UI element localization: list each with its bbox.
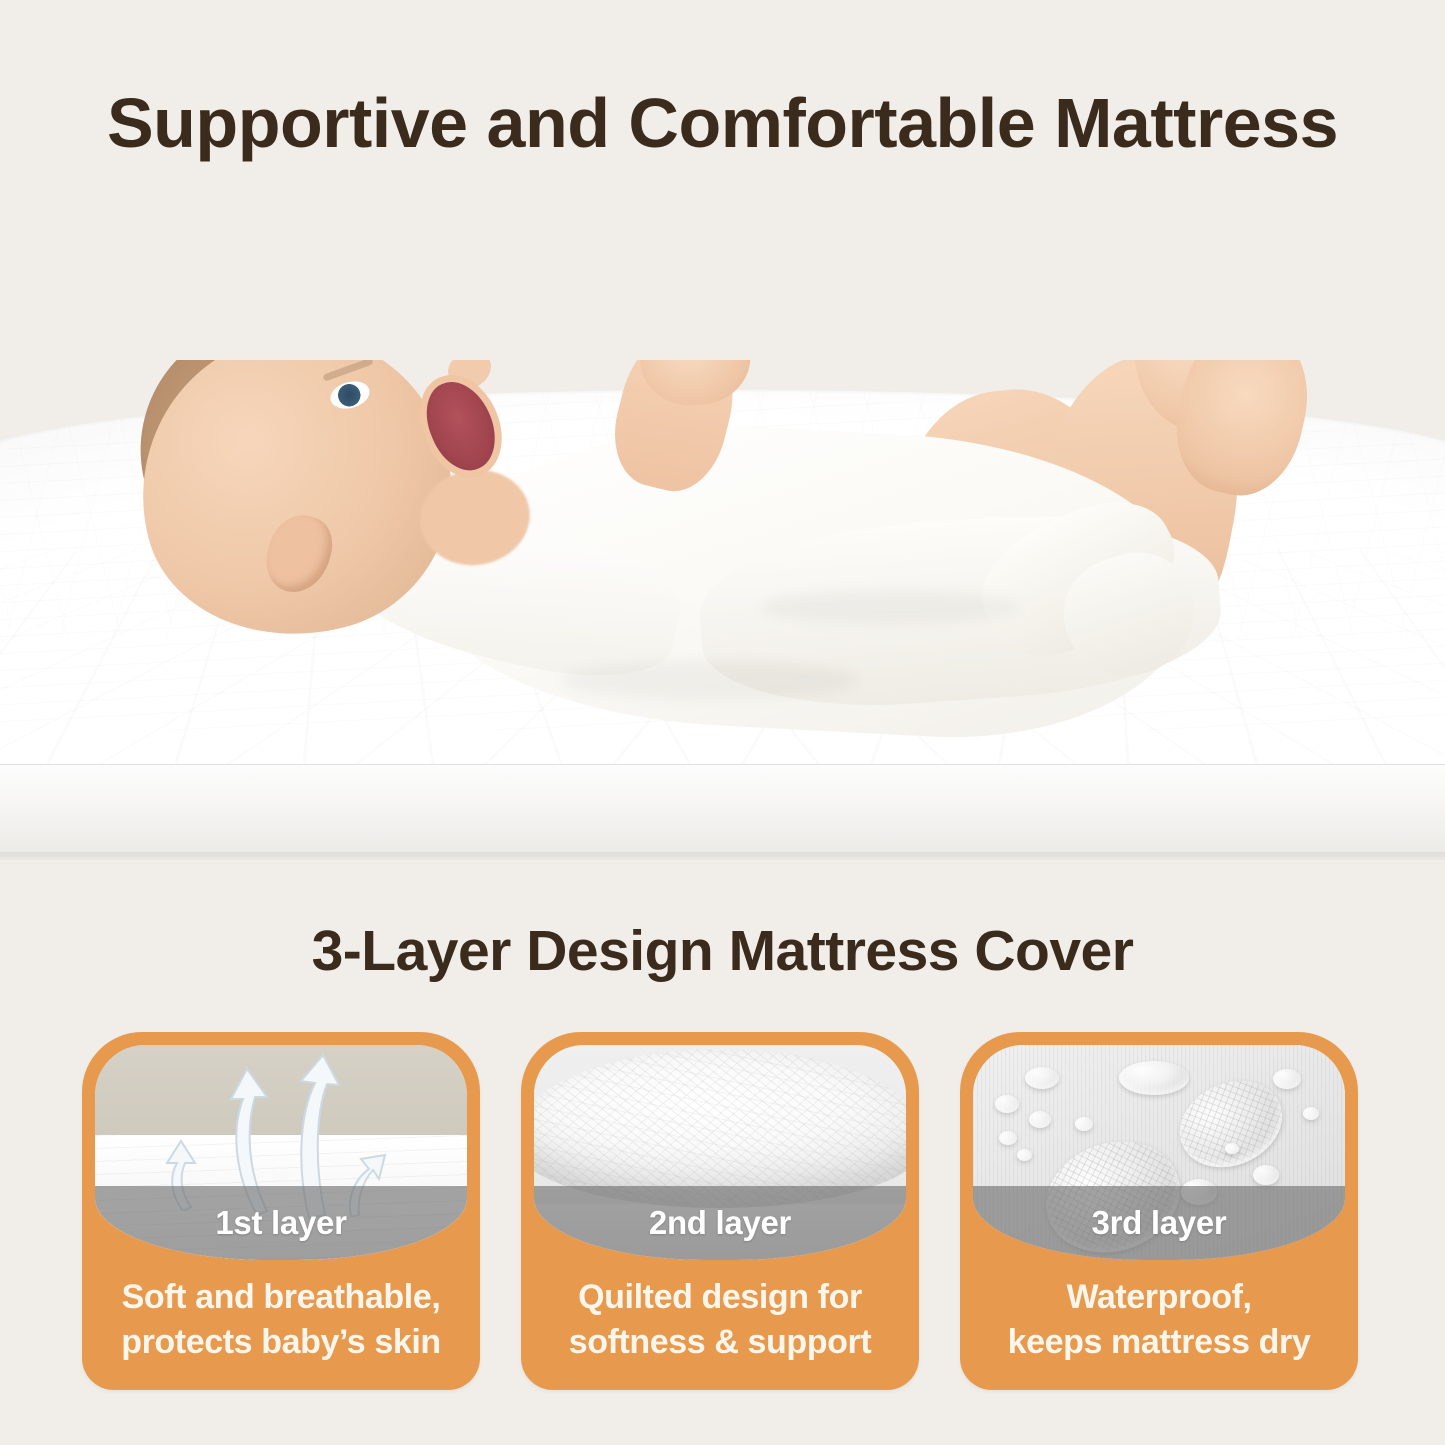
layer-card-1[interactable]: 1st layer Soft and breathable, protects … [82,1032,480,1390]
layer-card-2[interactable]: 2nd layer Quilted design for softness & … [521,1032,919,1390]
water-droplet-11 [1253,1165,1279,1185]
hero-mattress-photo [0,360,1445,860]
water-droplet-6 [1029,1111,1051,1128]
water-droplet-4 [1025,1067,1059,1089]
layer-card-3[interactable]: 3rd layer Waterproof, keeps mattress dry [960,1032,1358,1390]
water-droplet-13 [1303,1107,1319,1120]
onesie-fold-1 [560,660,860,700]
layer-caption-2: Quilted design for softness & support [521,1275,919,1365]
onesie-fold-2 [760,590,1020,624]
water-droplet-5 [995,1095,1019,1113]
breathable-airflow-photo: 1st layer [95,1045,467,1260]
layer-cards-row: 1st layer Soft and breathable, protects … [0,1032,1445,1392]
layer-caption-3: Waterproof, keeps mattress dry [960,1275,1358,1365]
water-droplet-3 [1119,1061,1189,1095]
water-droplet-8 [1017,1149,1032,1161]
layer-label-band-1: 1st layer [95,1186,467,1260]
layer-caption-3-line2: keeps mattress dry [976,1320,1342,1365]
quilted-fiber-fill-photo: 2nd layer [534,1045,906,1260]
layer-label-band-2: 2nd layer [534,1186,906,1260]
water-droplet-7 [999,1131,1017,1145]
layer-caption-1-line1: Soft and breathable, [98,1275,464,1320]
waterproof-droplets-photo: 3rd layer [973,1045,1345,1260]
water-droplet-14 [1225,1143,1239,1154]
layer-label-3: 3rd layer [1092,1204,1227,1242]
layer-caption-2-line1: Quilted design for [537,1275,903,1320]
layer-caption-2-line2: softness & support [537,1320,903,1365]
water-droplet-12 [1273,1069,1301,1089]
layer-caption-3-line1: Waterproof, [976,1275,1342,1320]
layer-label-1: 1st layer [215,1204,346,1242]
layer-label-band-3: 3rd layer [973,1186,1345,1260]
fiber-roll [534,1049,906,1208]
page-title: Supportive and Comfortable Mattress [0,82,1445,164]
layer-caption-1-line2: protects baby’s skin [98,1320,464,1365]
baby-illustration [0,360,1445,860]
water-droplet-9 [1075,1117,1093,1131]
section-title: 3-Layer Design Mattress Cover [0,918,1445,984]
layer-label-2: 2nd layer [649,1204,791,1242]
layer-caption-1: Soft and breathable, protects baby’s ski… [82,1275,480,1365]
